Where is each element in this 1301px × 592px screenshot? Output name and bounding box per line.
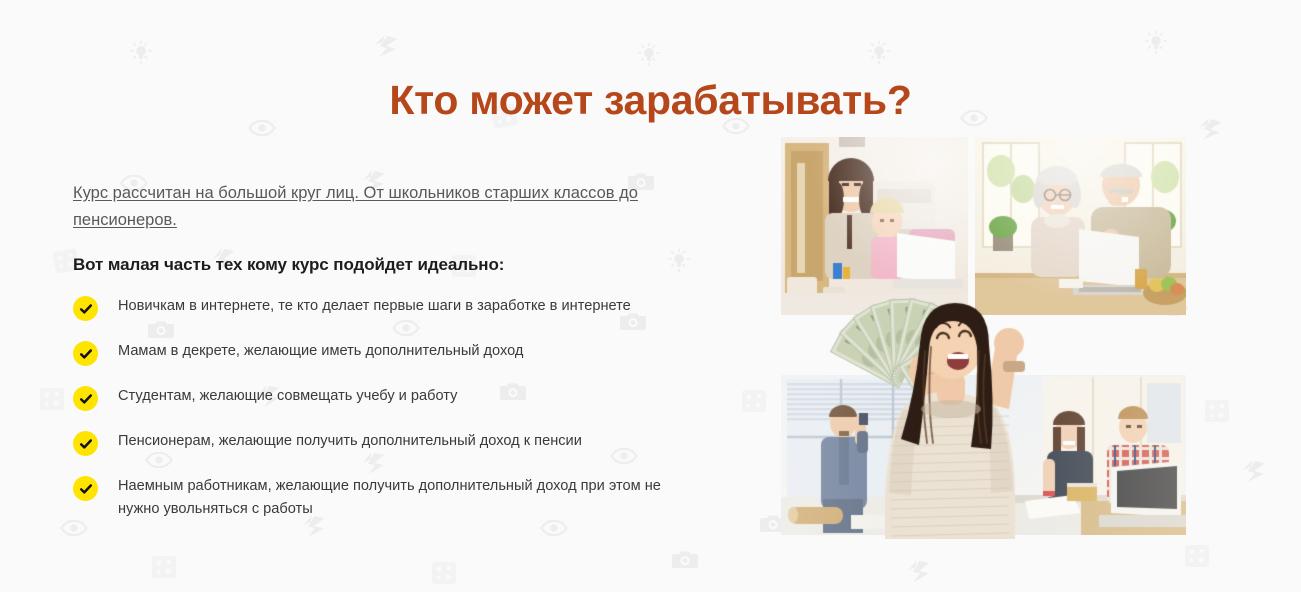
intro-paragraph: Курс рассчитан на большой круг лиц. От ш… — [73, 180, 698, 233]
check-icon — [73, 341, 98, 366]
benefits-checklist: Новичкам в интернете, те кто делает перв… — [73, 295, 723, 519]
checklist-item: Студентам, желающие совмещать учебу и ра… — [73, 385, 723, 411]
check-icon — [73, 386, 98, 411]
sub-heading: Вот малая часть тех кому курс подойдет и… — [73, 255, 723, 275]
slide-root: Кто может зарабатывать? Курс рассчитан н… — [0, 0, 1301, 592]
page-title: Кто может зарабатывать? — [0, 77, 1301, 124]
checklist-item-label: Студентам, желающие совмещать учебу и ра… — [118, 385, 457, 407]
photo-collage — [781, 137, 1186, 535]
check-icon — [73, 476, 98, 501]
checklist-item: Наемным работникам, желающие получить до… — [73, 475, 723, 519]
checklist-item: Пенсионерам, желающие получить дополните… — [73, 430, 723, 456]
checklist-item: Новичкам в интернете, те кто делает перв… — [73, 295, 723, 321]
checklist-item-label: Мамам в декрете, желающие иметь дополнит… — [118, 340, 523, 362]
checklist-item-label: Новичкам в интернете, те кто делает перв… — [118, 295, 631, 317]
check-icon — [73, 431, 98, 456]
checklist-item: Мамам в декрете, желающие иметь дополнит… — [73, 340, 723, 366]
check-icon — [73, 296, 98, 321]
checklist-item-label: Пенсионерам, желающие получить дополните… — [118, 430, 582, 452]
photo-woman-with-money — [819, 281, 1044, 539]
checklist-item-label: Наемным работникам, желающие получить до… — [118, 475, 703, 519]
content-column: Курс рассчитан на большой круг лиц. От ш… — [73, 180, 723, 520]
